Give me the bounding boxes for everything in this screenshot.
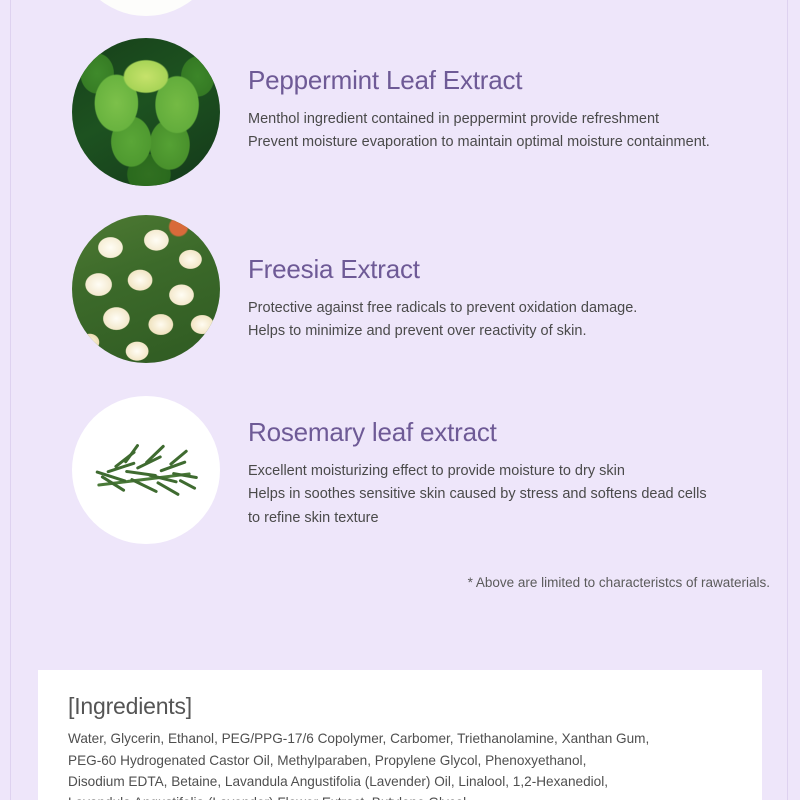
ingredients-line: PEG-60 Hydrogenated Castor Oil, Methylpa… xyxy=(68,750,732,771)
description-line: Excellent moisturizing effect to provide… xyxy=(248,460,788,483)
peppermint-artwork xyxy=(72,38,220,186)
ingredients-line: Disodium EDTA, Betaine, Lavandula Angust… xyxy=(68,771,732,792)
freesia-text-column: Freesia Extract Protective against free … xyxy=(248,255,788,344)
ingredients-full-list: Water, Glycerin, Ethanol, PEG/PPG-17/6 C… xyxy=(68,728,732,800)
description-line: Helps to minimize and prevent over react… xyxy=(248,320,788,343)
product-detail-page: Peppermint Leaf Extract Menthol ingredie… xyxy=(0,0,800,800)
leaf-artwork xyxy=(99,0,194,7)
description-line: Protective against free radicals to prev… xyxy=(248,297,788,320)
ingredient-title-freesia: Freesia Extract xyxy=(248,255,788,284)
freesia-flower-photo xyxy=(72,215,220,363)
ingredients-panel-heading: [Ingredients] xyxy=(68,694,732,719)
description-line: to refine skin texture xyxy=(248,507,788,530)
ingredient-title-rosemary: Rosemary leaf extract xyxy=(248,418,788,447)
rosemary-text-column: Rosemary leaf extract Excellent moisturi… xyxy=(248,418,788,530)
ingredient-description-peppermint: Menthol ingredient contained in peppermi… xyxy=(248,108,788,155)
ingredients-line: Water, Glycerin, Ethanol, PEG/PPG-17/6 C… xyxy=(68,728,732,749)
ingredient-description-freesia: Protective against free radicals to prev… xyxy=(248,297,788,344)
ingredient-title-peppermint: Peppermint Leaf Extract xyxy=(248,66,788,95)
previous-ingredient-thumbnail-clipped xyxy=(72,0,220,16)
freesia-artwork xyxy=(72,215,220,363)
ingredients-line: Lavandula Angustifolia (Lavender) Flower… xyxy=(68,792,732,800)
left-frame-rule xyxy=(10,0,11,800)
description-line: Helps in soothes sensitive skin caused b… xyxy=(248,483,788,506)
rosemary-sprig-shape xyxy=(93,446,200,496)
description-line: Menthol ingredient contained in peppermi… xyxy=(248,108,788,131)
description-line: Prevent moisture evaporation to maintain… xyxy=(248,131,788,154)
ingredient-description-rosemary: Excellent moisturizing effect to provide… xyxy=(248,460,788,530)
raw-materials-footnote: * Above are limited to characteristcs of… xyxy=(0,574,770,593)
peppermint-leaf-photo xyxy=(72,38,220,186)
peppermint-text-column: Peppermint Leaf Extract Menthol ingredie… xyxy=(248,66,788,155)
rosemary-artwork xyxy=(72,396,220,544)
rosemary-sprig-photo xyxy=(72,396,220,544)
ingredients-panel: [Ingredients] Water, Glycerin, Ethanol, … xyxy=(38,670,762,800)
